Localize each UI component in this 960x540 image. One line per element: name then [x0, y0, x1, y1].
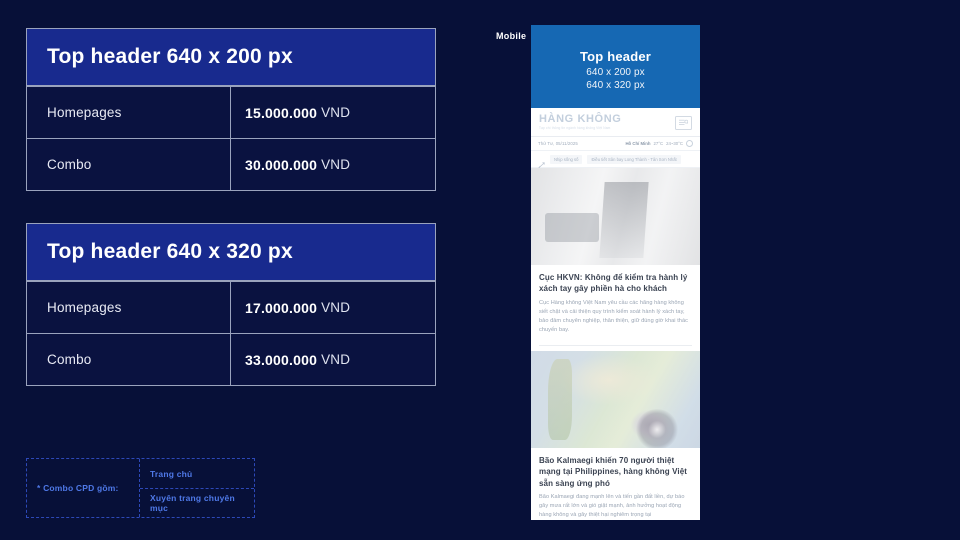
- list-item: Trang chủ: [140, 459, 254, 488]
- pricing-table-640x320: Top header 640 x 320 px Homepages 17.000…: [26, 223, 436, 386]
- article-title: Cục HKVN: Không để kiểm tra hành lý xách…: [531, 265, 700, 295]
- device-label: Mobile: [496, 31, 526, 41]
- list-item: Xuyên trang chuyên mục: [140, 488, 254, 517]
- article-photo: [531, 351, 700, 448]
- price-currency: VND: [321, 300, 350, 315]
- combo-note-label: * Combo CPD gồm:: [27, 459, 140, 517]
- price-amount: 33.000.000: [245, 352, 317, 368]
- pricing-table-header: Top header 640 x 320 px: [27, 224, 435, 281]
- price-currency: VND: [321, 105, 350, 120]
- pricing-table-header: Top header 640 x 200 px: [27, 29, 435, 86]
- hamburger-menu-icon[interactable]: [675, 116, 692, 130]
- pricing-table-640x200: Top header 640 x 200 px Homepages 15.000…: [26, 28, 436, 191]
- price-currency: VND: [321, 352, 350, 367]
- site-logo-tagline: Tạp chí thông tin ngành hàng không Việt …: [539, 127, 621, 130]
- row-label: Homepages: [27, 87, 231, 138]
- divider: [539, 345, 692, 346]
- weather-city: Hồ Chí Minh: [625, 141, 650, 146]
- list-item[interactable]: Bão Kalmaegi khiến 70 người thiệt mạng t…: [531, 351, 700, 520]
- row-price: 33.000.000 VND: [231, 334, 435, 385]
- site-ticker-bar: Nhịp sống số Điều tiết Sân bay Long Thàn…: [531, 151, 700, 168]
- row-price: 30.000.000 VND: [231, 139, 435, 190]
- weather-range: 24~30°C: [666, 141, 683, 146]
- price-amount: 30.000.000: [245, 157, 317, 173]
- site-topbar: HÀNG KHÔNG Tạp chí thông tin ngành hàng …: [531, 108, 700, 137]
- slide-root: Top header 640 x 200 px Homepages 15.000…: [0, 0, 960, 540]
- site-logo[interactable]: HÀNG KHÔNG Tạp chí thông tin ngành hàng …: [539, 114, 621, 130]
- status-weather: Hồ Chí Minh 27°C 24~30°C: [625, 140, 693, 147]
- airplane-takeoff-icon: [538, 156, 545, 163]
- price-amount: 15.000.000: [245, 105, 317, 121]
- weather-temperature: 27°C: [654, 141, 664, 146]
- banner-size-line: 640 x 320 px: [586, 80, 644, 93]
- status-date: Thứ Tư, 05/11/2025: [538, 141, 578, 146]
- table-row: Homepages 17.000.000 VND: [27, 281, 435, 333]
- pricing-table-title: Top header 640 x 200 px: [47, 45, 415, 68]
- mobile-preview-mockup: Top header 640 x 200 px 640 x 320 px HÀN…: [531, 25, 700, 520]
- row-price: 17.000.000 VND: [231, 282, 435, 333]
- ticker-chip[interactable]: Nhịp sống số: [550, 155, 582, 164]
- row-label: Homepages: [27, 282, 231, 333]
- banner-title: Top header: [580, 49, 651, 64]
- table-row: Combo 33.000.000 VND: [27, 333, 435, 385]
- price-amount: 17.000.000: [245, 300, 317, 316]
- site-status-bar: Thứ Tư, 05/11/2025 Hồ Chí Minh 27°C 24~3…: [531, 137, 700, 151]
- article-photo: [531, 168, 700, 265]
- combo-note-item-list: Trang chủ Xuyên trang chuyên mục: [140, 459, 254, 517]
- row-label: Combo: [27, 139, 231, 190]
- article-summary: Cục Hàng không Việt Nam yêu cầu các hãng…: [531, 295, 700, 343]
- row-label: Combo: [27, 334, 231, 385]
- sun-icon: [686, 140, 693, 147]
- article-title: Bão Kalmaegi khiến 70 người thiệt mạng t…: [531, 448, 700, 489]
- pricing-table-title: Top header 640 x 320 px: [47, 240, 415, 263]
- article-summary: Bão Kalmaegi đang mạnh lên và tiến gần đ…: [531, 489, 700, 520]
- pricing-tables-column: Top header 640 x 200 px Homepages 15.000…: [26, 28, 436, 418]
- row-price: 15.000.000 VND: [231, 87, 435, 138]
- ticker-chip[interactable]: Điều tiết Sân bay Long Thành - Tân Sơn N…: [587, 155, 680, 164]
- price-currency: VND: [321, 157, 350, 172]
- combo-note-box: * Combo CPD gồm: Trang chủ Xuyên trang c…: [26, 458, 255, 518]
- site-logo-text: HÀNG KHÔNG: [539, 114, 621, 125]
- banner-size-line: 640 x 200 px: [586, 67, 644, 80]
- table-row: Combo 30.000.000 VND: [27, 138, 435, 190]
- list-item[interactable]: Cục HKVN: Không để kiểm tra hành lý xách…: [531, 168, 700, 343]
- table-row: Homepages 15.000.000 VND: [27, 86, 435, 138]
- top-header-ad-banner: Top header 640 x 200 px 640 x 320 px: [531, 25, 700, 108]
- website-preview: HÀNG KHÔNG Tạp chí thông tin ngành hàng …: [531, 108, 700, 520]
